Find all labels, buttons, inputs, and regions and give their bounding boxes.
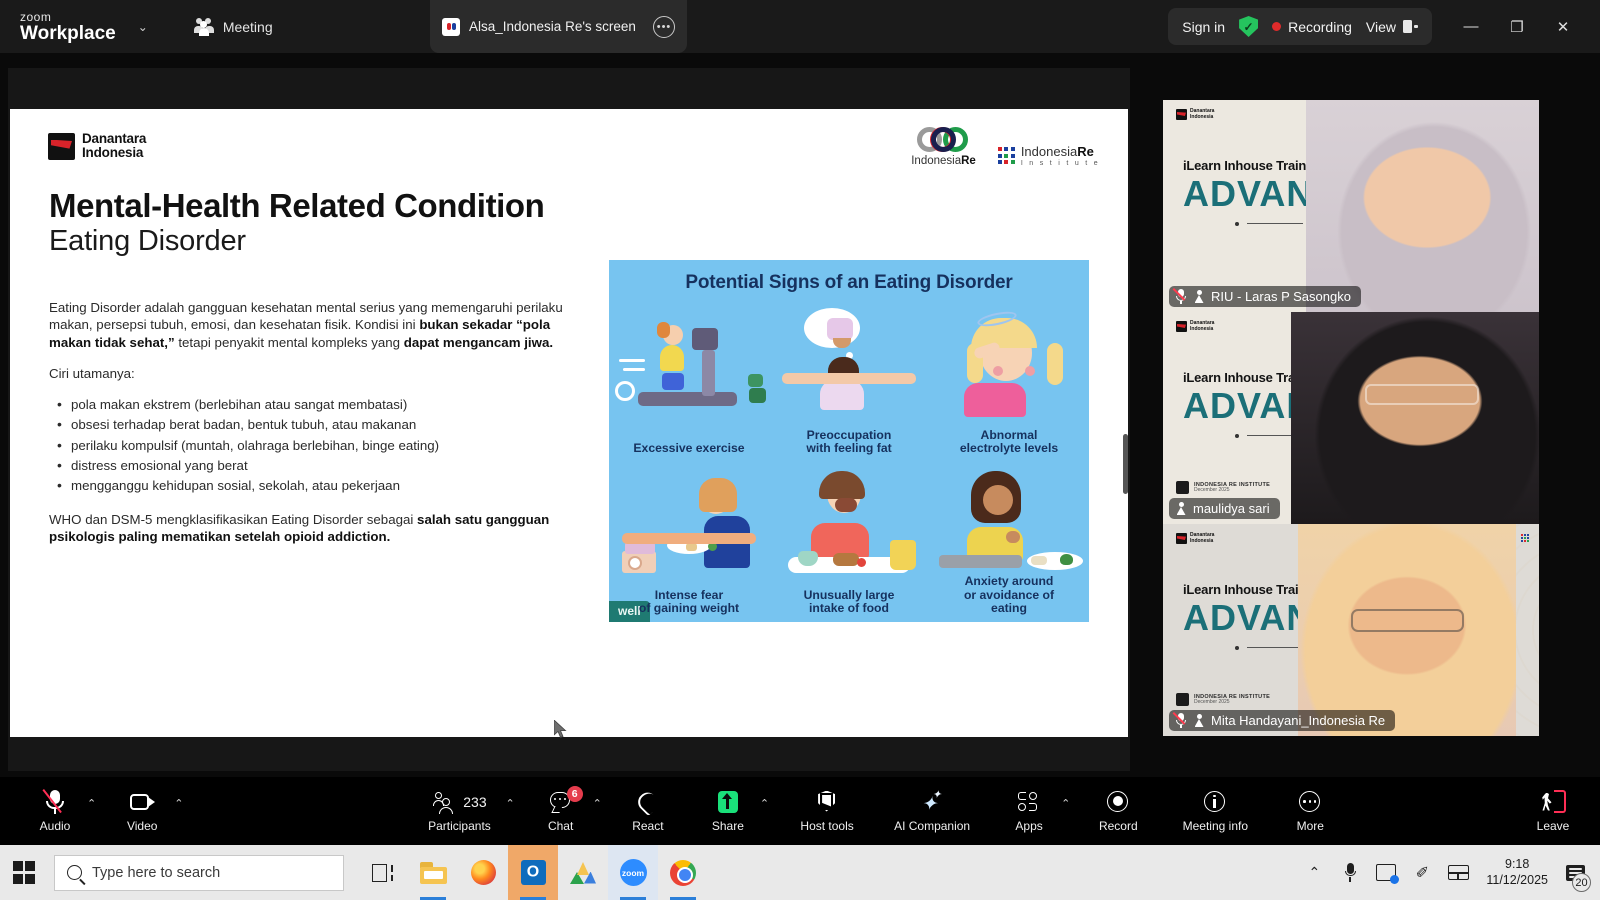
zoom-meeting-window: zoom Workplace ⌄ Meeting Alsa_Indonesia … [0,0,1600,900]
host-tools-label: Host tools [800,819,853,833]
treadmill-runner-illustration [609,306,769,422]
danantara-logo: DanantaraIndonesia [1176,533,1214,544]
zoom-share-icon [442,18,460,36]
audio-button[interactable]: Audio [26,779,84,843]
re-logo-name-b: Re [961,155,976,167]
participant-name: maulidya sari [1193,501,1270,516]
recording-label: Recording [1288,19,1352,35]
title-bar-right: Sign in Recording View — ❐ ✕ [1168,8,1586,45]
record-button[interactable]: Record [1087,779,1149,843]
tab-shared-screen[interactable]: Alsa_Indonesia Re's screen ••• [430,0,687,53]
participant-video-feed [1291,312,1539,524]
outlook-icon[interactable] [508,845,558,900]
slide-body: Eating Disorder adalah gangguan kesehata… [49,299,579,559]
chat-unread-badge: 6 [567,786,583,802]
people-icon [194,18,214,35]
ai-companion-button[interactable]: ✦✦ AI Companion [884,779,980,843]
zoom-workplace-logo: zoom Workplace [20,11,116,43]
chat-icon: 6 [548,790,574,814]
pin-icon [1175,502,1187,516]
participant-video-feed [1306,100,1539,312]
audio-options-chevron-icon[interactable]: ⌃ [84,797,99,826]
institute-mark-icon [1176,481,1189,494]
slide-closing-paragraph: WHO dan DSM-5 mengklasifikasikan Eating … [49,511,579,546]
list-item: perilaku kompulsif (muntah, olahraga ber… [49,437,579,454]
microphone-muted-icon [42,790,68,814]
apps-label: Apps [1015,819,1042,833]
recording-indicator[interactable]: Recording [1272,19,1352,35]
info-icon [1202,790,1228,814]
share-button[interactable]: Share [699,779,757,843]
camera-icon [129,790,155,814]
institute-mark-icon [1176,693,1189,706]
tab-shared-screen-label: Alsa_Indonesia Re's screen [469,19,644,34]
microphone-muted-icon [1175,713,1187,728]
tab-meeting[interactable]: Meeting [184,11,283,42]
participant-video-feed [1298,524,1516,736]
chat-label: Chat [548,819,573,833]
list-item: distress emosional yang berat [49,457,579,474]
indonesia-re-institute-logo: IndonesiaRe I n s t i t u t e [998,144,1100,167]
meeting-info-label: Meeting info [1183,819,1248,833]
institute-watermark: INDONESIA RE INSTITUTEDecember 2025 [1176,693,1270,706]
participant-name-bar: RIU - Laras P Sasongko [1169,286,1361,307]
infographic-cell-large-intake: Unusually large intake of food [769,462,929,622]
toolbar-center-group: 233 Participants ⌃ 6 Chat ⌃ React [416,779,1339,843]
re-rings-icon [917,127,971,152]
intro-b: tetapi penyakit mental kompleks yang [175,335,404,350]
list-item: obsesi terhadap berat badan, bentuk tubu… [49,416,579,433]
infographic-grid: Excessive exercise [609,302,1089,622]
infographic-caption: Preoccupation with feeling fat [806,429,891,456]
thought-bubble-illustration [769,306,929,422]
participants-button[interactable]: 233 Participants [416,779,502,843]
pen-icon[interactable]: ✐ [1404,845,1440,900]
view-button[interactable]: View [1366,19,1418,35]
video-tile-mita[interactable]: DanantaraIndonesia ✦ iLearn Inhouse Trai… [1163,524,1539,736]
more-label: More [1297,819,1324,833]
more-button[interactable]: More [1281,779,1339,843]
toolbar-left-group: Audio ⌃ Video ⌃ [26,779,186,843]
overeating-illustration [769,466,929,582]
tile-brand-line2: Indonesia [1190,115,1214,120]
pin-icon [1193,290,1205,304]
infographic-cell-preoccupation: Preoccupation with feeling fat [769,302,929,462]
indonesia-re-logos: IndonesiaRe IndonesiaRe I n s t i t u t … [911,127,1100,167]
shared-screen-stage[interactable]: Danantara Indonesia IndonesiaRe [8,68,1130,771]
view-label: View [1366,19,1396,35]
danantara-line2: Indonesia [82,146,146,160]
list-item: mengganggu kehidupan sosial, sekolah, at… [49,477,579,494]
infographic-caption: Excessive exercise [633,442,744,456]
participant-video-strip: DanantaraIndonesia iLearn Inhouse Traini… [1163,100,1539,736]
institute-name-b: Re [1077,144,1094,159]
tile-brand-line2: Indonesia [1190,539,1214,544]
mouse-cursor [554,720,567,739]
zoom-logo-line1: zoom [20,11,116,23]
chat-button[interactable]: 6 Chat [532,779,590,843]
clock[interactable]: 9:18 11/12/2025 [1476,857,1558,888]
chrome-icon[interactable] [658,845,708,900]
pin-icon [1193,714,1205,728]
minimize-button[interactable]: — [1448,8,1494,45]
notification-count-badge: 20 [1572,873,1591,892]
slide-subtitle: Eating Disorder [49,225,246,258]
danantara-mark-icon [1176,321,1187,332]
danantara-mark-icon [1176,533,1187,544]
microphone-icon[interactable] [1332,845,1368,900]
people-icon [432,790,458,814]
danantara-logo: DanantaraIndonesia [1176,321,1214,332]
touch-keyboard-icon[interactable] [1440,845,1476,900]
search-placeholder: Type here to search [92,865,220,881]
participants-count: 233 [463,794,486,810]
sign-in-button[interactable]: Sign in [1182,19,1225,35]
close-button[interactable]: ✕ [1540,8,1586,45]
meeting-controls-toolbar: Audio ⌃ Video ⌃ 233 Participants ⌃ [0,777,1600,845]
tab-more-options-icon[interactable]: ••• [653,16,675,38]
danantara-mark-icon [1176,109,1187,120]
notification-center-icon[interactable]: 20 [1558,845,1592,900]
video-tile-maulidya[interactable]: DanantaraIndonesia iLearn Inhouse Traini… [1163,312,1539,524]
zoom-logo-line2: Workplace [20,24,116,43]
video-label: Video [127,819,157,833]
infographic-caption: Abnormal electrolyte levels [960,429,1058,456]
apps-button[interactable]: Apps [1000,779,1058,843]
chat-chevron-icon[interactable]: ⌃ [590,797,605,826]
leave-label: Leave [1537,819,1570,833]
microphone-muted-icon [1175,289,1187,304]
shield-icon [814,790,840,814]
show-hidden-icons-caret[interactable]: ⌃ [1296,845,1332,900]
video-button[interactable]: Video [113,779,171,843]
leave-button[interactable]: Leave [1524,779,1582,843]
participant-name-bar: Mita Handayani_Indonesia Re [1169,710,1395,731]
heart-icon [636,790,660,814]
search-icon [67,865,82,880]
dizzy-woman-illustration [929,306,1089,422]
institute-watermark-line2: December 2025 [1194,700,1270,706]
video-options-chevron-icon[interactable]: ⌃ [171,797,186,826]
slide-bullet-list: pola makan ekstrem (berlebihan atau sang… [49,396,579,494]
slide-scrollbar[interactable] [1123,434,1128,494]
audio-label: Audio [40,819,71,833]
participant-name: Mita Handayani_Indonesia Re [1211,713,1385,728]
tile-brand-line2: Indonesia [1190,327,1214,332]
danantara-line1: Danantara [82,132,146,146]
windows-start-icon[interactable] [0,845,48,900]
clock-date: 11/12/2025 [1486,873,1548,889]
presentation-slide: Danantara Indonesia IndonesiaRe [10,109,1128,737]
institute-subtitle: I n s t i t u t e [1021,160,1100,167]
react-button[interactable]: React [619,779,677,843]
record-label: Record [1099,819,1138,833]
institute-watermark: INDONESIA RE INSTITUTEDecember 2025 [1176,481,1270,494]
share-label: Share [712,819,744,833]
task-view-icon[interactable] [358,845,408,900]
food-avoidance-illustration [929,466,1089,582]
leave-door-icon [1538,790,1568,814]
infographic-title: Potential Signs of an Eating Disorder [609,272,1089,294]
list-item: pola makan ekstrem (berlebihan atau sang… [49,396,579,413]
file-explorer-icon[interactable] [408,845,458,900]
intro-bold-2: dapat mengancam jiwa. [404,335,553,350]
record-icon [1105,790,1131,814]
share-screen-icon [715,790,741,814]
slide-lead-in: Ciri utamanya: [49,365,579,382]
infographic-cell-intense-fear: Intense fear of gaining weight [609,462,769,622]
participant-name-bar: maulidya sari [1169,498,1280,519]
sparkle-icon: ✦✦ [919,790,945,814]
participants-chevron-icon[interactable]: ⌃ [502,797,517,826]
infographic-caption: Intense fear of gaining weight [639,589,739,616]
eating-disorder-infographic: Potential Signs of an Eating Disorder [609,260,1089,622]
google-drive-icon[interactable] [558,845,608,900]
danantara-logo: DanantaraIndonesia [1176,109,1214,120]
dot-grid-icon [1521,534,1529,542]
closing-a: WHO dan DSM-5 mengklasifikasikan Eating … [49,512,417,527]
dot-grid-icon [998,147,1015,164]
indonesia-re-logo: IndonesiaRe [911,127,976,167]
workspace-chevron-down-icon[interactable]: ⌄ [138,20,148,34]
system-tray: ⌃ ✐ 9:18 11/12/2025 20 [1296,845,1600,900]
slide-title: Mental-Health Related Condition [49,187,544,225]
share-chevron-icon[interactable]: ⌃ [757,797,772,826]
status-pill: Sign in Recording View [1168,8,1432,45]
meeting-info-button[interactable]: Meeting info [1169,779,1261,843]
ellipsis-icon [1297,790,1323,814]
re-logo-name-a: Indonesia [911,155,961,167]
maximize-restore-button[interactable]: ❐ [1494,8,1540,45]
ai-companion-label: AI Companion [894,819,970,833]
video-tile-laras[interactable]: DanantaraIndonesia iLearn Inhouse Traini… [1163,100,1539,312]
tab-meeting-label: Meeting [223,19,273,35]
windows-taskbar: Type here to search zoom ⌃ ✐ 9:18 11/12/… [0,845,1600,900]
infographic-cell-electrolyte: Abnormal electrolyte levels [929,302,1089,462]
infographic-cell-anxiety-avoidance: Anxiety around or avoidance of eating [929,462,1089,622]
participants-label: Participants [428,819,491,833]
institute-name-a: Indonesia [1021,144,1077,159]
host-tools-button[interactable]: Host tools [790,779,864,843]
participant-name: RIU - Laras P Sasongko [1211,289,1351,304]
search-input[interactable]: Type here to search [54,855,344,891]
slide-intro-paragraph: Eating Disorder adalah gangguan kesehata… [49,299,579,351]
encryption-shield-icon[interactable] [1239,16,1258,37]
apps-chevron-icon[interactable]: ⌃ [1058,797,1073,826]
firefox-icon[interactable] [458,845,508,900]
weighing-food-illustration [609,466,769,582]
display-cast-icon[interactable] [1368,845,1404,900]
danantara-logo: Danantara Indonesia [48,132,146,160]
layout-view-icon [1403,20,1418,33]
danantara-mark-icon [48,133,75,160]
institute-watermark-line2: December 2025 [1194,488,1270,494]
zoom-icon[interactable]: zoom [608,845,658,900]
recording-dot-icon [1272,22,1281,31]
react-label: React [632,819,663,833]
infographic-caption: Unusually large intake of food [804,589,895,616]
apps-icon [1016,790,1042,814]
infographic-cell-excessive-exercise: Excessive exercise [609,302,769,462]
title-bar: zoom Workplace ⌄ Meeting Alsa_Indonesia … [0,0,1600,53]
infographic-caption: Anxiety around or avoidance of eating [964,575,1054,616]
clock-time: 9:18 [1486,857,1548,873]
